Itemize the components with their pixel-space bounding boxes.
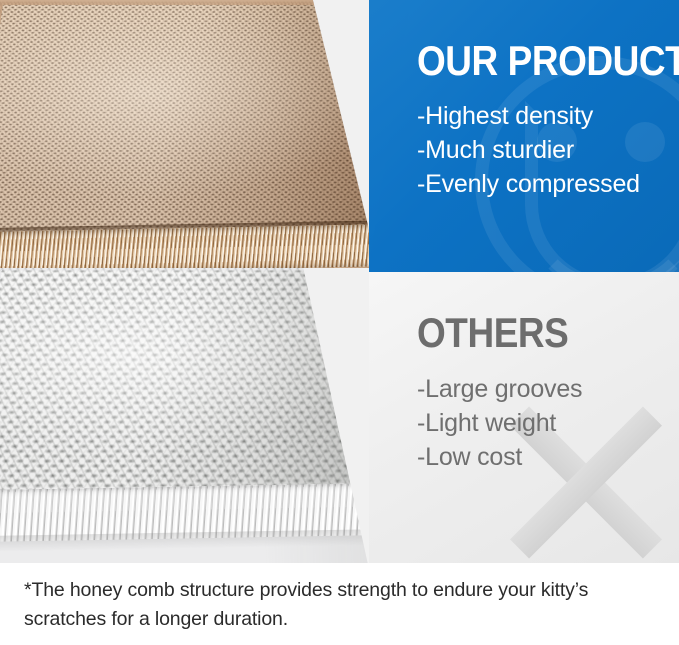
- our-product-bullet: -Evenly compressed: [417, 167, 675, 201]
- our-product-bullet: -Much sturdier: [417, 133, 675, 167]
- footer-area: *The honey comb structure provides stren…: [0, 563, 679, 645]
- panel-diagonal-edge: [369, 0, 411, 272]
- others-text-block: OTHERS -Large grooves -Light weight -Low…: [417, 312, 675, 474]
- our-product-bullet: -Highest density: [417, 99, 675, 133]
- others-heading: OTHERS: [417, 312, 644, 354]
- footnote-text: *The honey comb structure provides stren…: [24, 576, 664, 634]
- kraft-corrugated-edge: [0, 224, 417, 272]
- our-product-bullet-list: -Highest density -Much sturdier -Evenly …: [417, 99, 675, 201]
- our-product-text-block: OUR PRODUCT -Highest density -Much sturd…: [417, 40, 675, 201]
- comparison-stage: OUR PRODUCT -Highest density -Much sturd…: [0, 0, 679, 563]
- others-bullet: -Light weight: [417, 406, 675, 440]
- others-photo: [0, 268, 430, 563]
- others-bullet-list: -Large grooves -Light weight -Low cost: [417, 372, 675, 474]
- others-bullet: -Low cost: [417, 440, 675, 474]
- our-product-photo: [0, 0, 430, 272]
- our-product-heading: OUR PRODUCT: [417, 40, 644, 82]
- others-bullet: -Large grooves: [417, 372, 675, 406]
- product-comparison-infographic: OUR PRODUCT -Highest density -Much sturd…: [0, 0, 679, 645]
